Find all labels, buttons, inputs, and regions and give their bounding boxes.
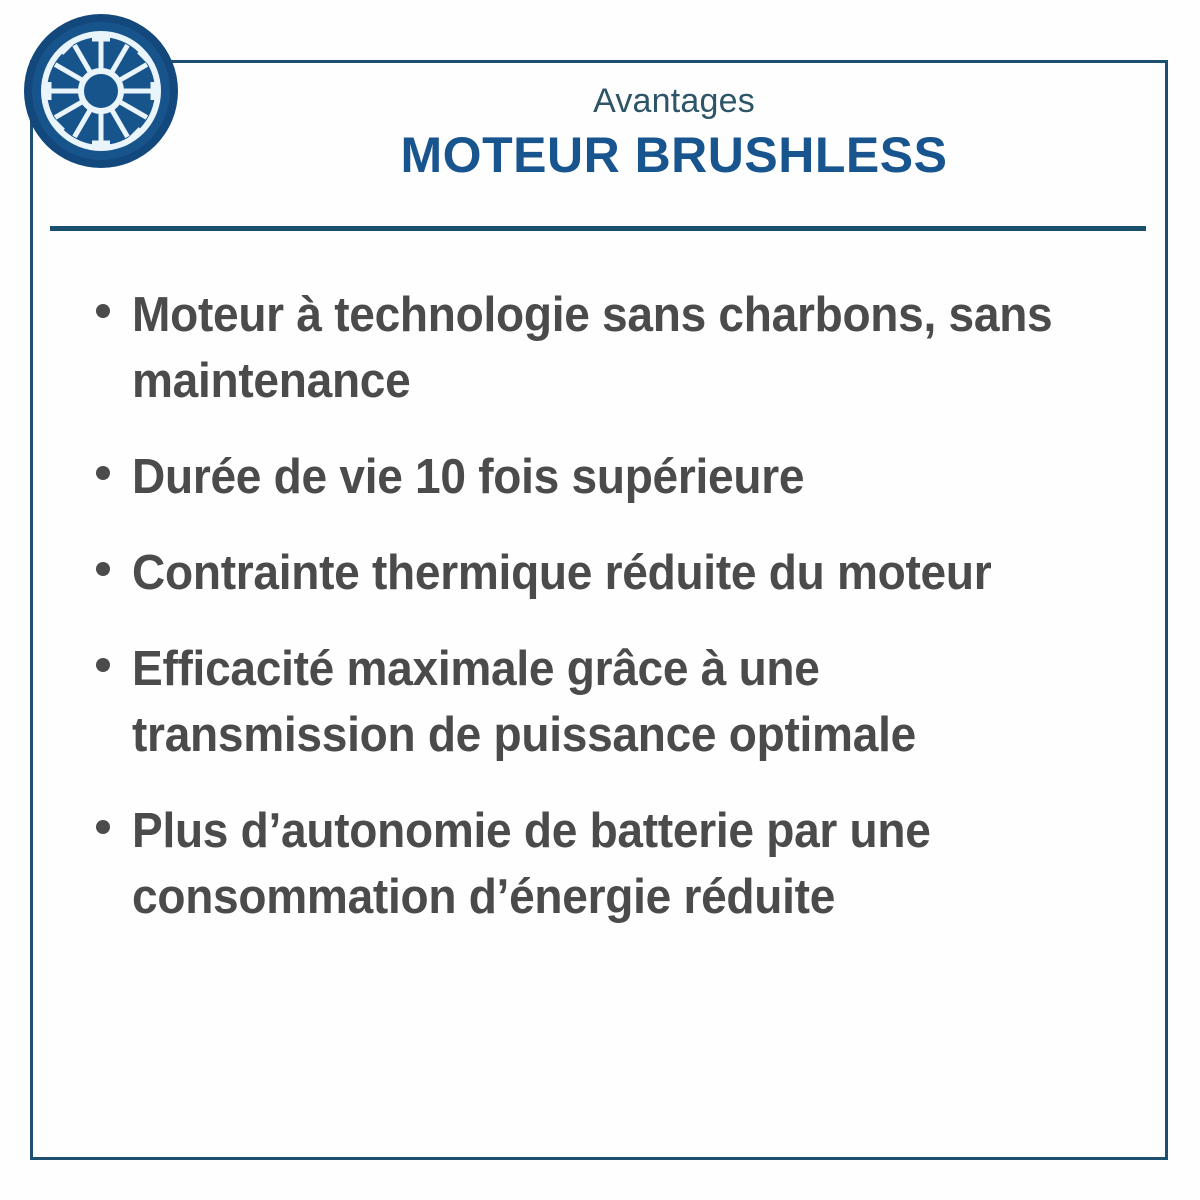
list-item-label: Moteur à technologie sans charbons, sans… [132, 282, 1057, 414]
list-item-label: Durée de vie 10 fois supérieure [132, 444, 1057, 510]
list-item: Moteur à technologie sans charbons, sans… [96, 282, 1116, 414]
list-item: Efficacité maximale grâce à une transmis… [96, 636, 1116, 768]
list-item: Contrainte thermique réduite du moteur [96, 540, 1116, 606]
header-block: Avantages MOTEUR BRUSHLESS [180, 80, 1168, 186]
list-item: Durée de vie 10 fois supérieure [96, 444, 1116, 510]
page-title: MOTEUR BRUSHLESS [180, 124, 1168, 186]
list-item-label: Efficacité maximale grâce à une transmis… [132, 636, 1057, 768]
brushless-motor-icon [22, 12, 180, 170]
eyebrow-label: Avantages [180, 80, 1168, 122]
bullet-dot-icon [96, 304, 110, 318]
list-item-label: Plus d’autonomie de batterie par une con… [132, 798, 1057, 930]
advantages-poster: Avantages MOTEUR BRUSHLESS Moteur à tech… [0, 0, 1200, 1200]
advantages-list: Moteur à technologie sans charbons, sans… [96, 282, 1116, 930]
bullet-dot-icon [96, 658, 110, 672]
bullet-dot-icon [96, 466, 110, 480]
bullet-dot-icon [96, 820, 110, 834]
bullet-dot-icon [96, 562, 110, 576]
list-item-label: Contrainte thermique réduite du moteur [132, 540, 1057, 606]
list-item: Plus d’autonomie de batterie par une con… [96, 798, 1116, 930]
header-divider [50, 226, 1146, 231]
